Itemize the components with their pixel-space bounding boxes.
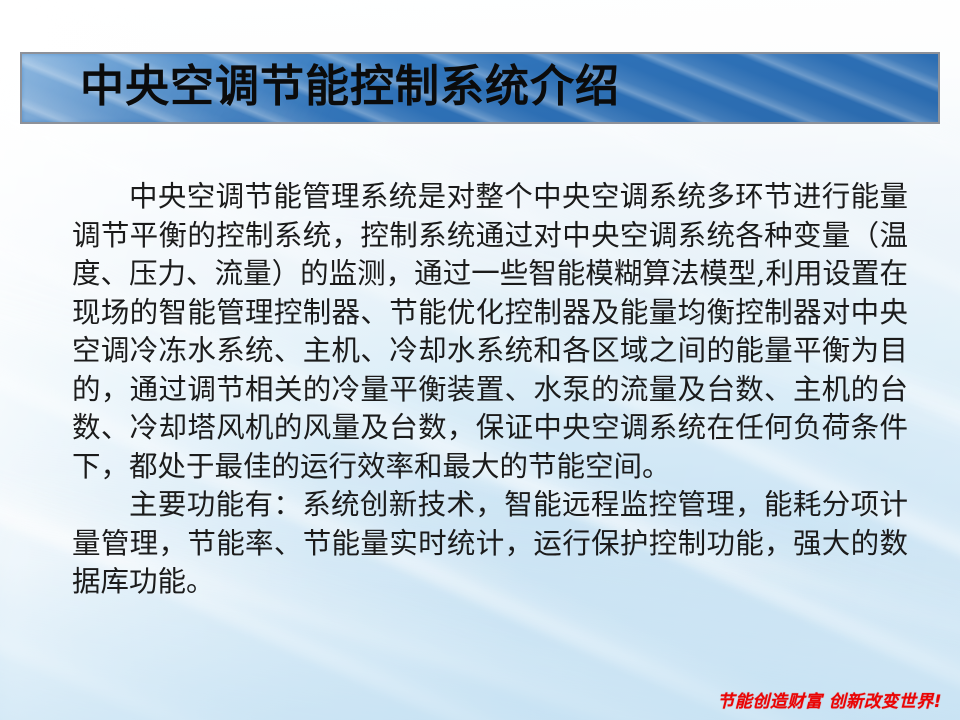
body-paragraph-2: 主要功能有：系统创新技术，智能远程监控管理，能耗分项计量管理，节能率、节能量实时… [72, 486, 908, 602]
body-paragraph-1: 中央空调节能管理系统是对整个中央空调系统多环节进行能量调节平衡的控制系统，控制系… [72, 178, 908, 486]
page-title: 中央空调节能控制系统介绍 [80, 65, 620, 109]
presentation-slide: 中央空调节能控制系统介绍 中央空调节能管理系统是对整个中央空调系统多环节进行能量… [0, 0, 960, 720]
footer-slogan: 节能创造财富 创新改变世界! [717, 687, 942, 712]
slide-body-text: 中央空调节能管理系统是对整个中央空调系统多环节进行能量调节平衡的控制系统，控制系… [72, 178, 908, 602]
slide-title-banner: 中央空调节能控制系统介绍 [20, 52, 940, 124]
